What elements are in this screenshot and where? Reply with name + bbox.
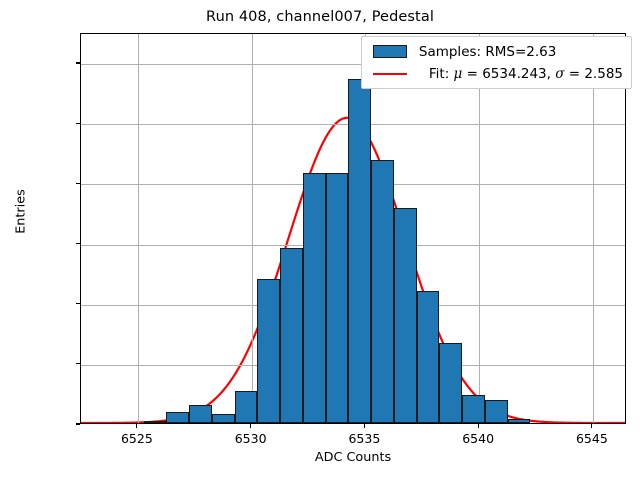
gridline-vertical xyxy=(252,34,253,423)
x-axis-tick-label: 6540 xyxy=(462,431,494,446)
y-axis-tick-mark xyxy=(76,363,80,364)
histogram-bar xyxy=(508,419,531,423)
histogram-bar xyxy=(280,248,303,423)
gridline-vertical xyxy=(138,34,139,423)
histogram-bar xyxy=(394,208,417,423)
y-axis-tick-mark xyxy=(76,183,80,184)
histogram-bar xyxy=(462,395,485,423)
x-axis-tick-mark xyxy=(478,424,479,428)
histogram-bar xyxy=(212,414,235,423)
y-axis-tick-mark xyxy=(76,123,80,124)
y-axis-tick-mark xyxy=(76,62,80,63)
legend-swatch-samples xyxy=(369,45,411,58)
x-axis-tick-mark xyxy=(591,424,592,428)
legend-fit-mu-value: = 6534.243, xyxy=(462,66,555,82)
legend-fit-prefix: Fit: xyxy=(429,66,454,82)
histogram-figure: Run 408, channel007, Pedestal Entries AD… xyxy=(0,0,640,480)
legend-box: Samples: RMS=2.63 Fit: μ = 6534.243, σ =… xyxy=(361,36,632,89)
plot-area xyxy=(80,33,626,424)
gridline-vertical xyxy=(479,34,480,423)
histogram-bar xyxy=(166,412,189,423)
y-axis-tick-mark xyxy=(76,423,80,424)
histogram-bar xyxy=(235,391,258,423)
y-axis-tick-mark xyxy=(76,243,80,244)
x-axis-tick-mark xyxy=(364,424,365,428)
histogram-bar xyxy=(257,279,280,423)
histogram-bar xyxy=(371,160,394,423)
histogram-bar xyxy=(303,173,326,423)
x-axis-tick-label: 6535 xyxy=(348,431,380,446)
x-axis-tick-mark xyxy=(250,424,251,428)
histogram-bar xyxy=(439,343,462,423)
histogram-bar xyxy=(348,79,371,423)
histogram-bar xyxy=(189,405,212,423)
x-axis-tick-label: 6545 xyxy=(576,431,608,446)
legend-label-fit: Fit: μ = 6534.243, σ = 2.585 xyxy=(429,66,623,82)
x-axis-tick-mark xyxy=(136,424,137,428)
legend-fit-sigma-value: = 2.585 xyxy=(564,66,623,82)
legend-entry-fit: Fit: μ = 6534.243, σ = 2.585 xyxy=(369,64,623,83)
legend-fit-mu-symbol: μ xyxy=(454,66,463,82)
legend-entry-samples: Samples: RMS=2.63 xyxy=(369,42,623,61)
y-axis-label: Entries xyxy=(14,112,29,312)
y-axis-tick-mark xyxy=(76,303,80,304)
x-axis-tick-label: 6525 xyxy=(121,431,153,446)
histogram-bar xyxy=(326,173,349,423)
x-axis-label: ADC Counts xyxy=(80,450,626,465)
x-axis-tick-label: 6530 xyxy=(235,431,267,446)
gridline-vertical xyxy=(593,34,594,423)
histogram-bar xyxy=(144,421,167,423)
legend-label-samples: Samples: RMS=2.63 xyxy=(419,44,556,60)
chart-title: Run 408, channel007, Pedestal xyxy=(0,9,640,25)
histogram-bar xyxy=(417,291,440,423)
legend-swatch-fit xyxy=(369,73,411,75)
histogram-bar xyxy=(485,400,508,423)
